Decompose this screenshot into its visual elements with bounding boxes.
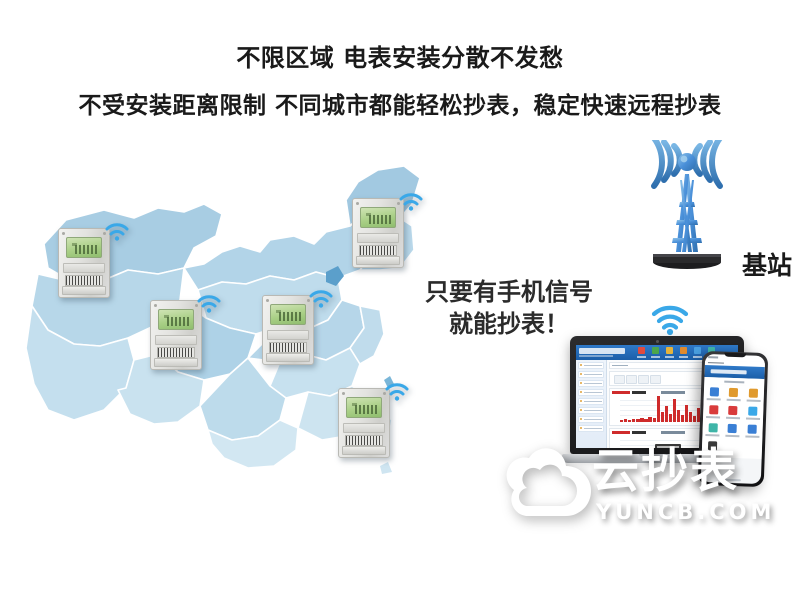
- phone-shell: [698, 351, 769, 487]
- toolbar-icon-5[interactable]: [694, 347, 701, 358]
- electric-meter-icon: [58, 228, 110, 298]
- meter-southeast: [338, 388, 390, 458]
- wifi-icon: [308, 287, 334, 309]
- app-icon-trophy[interactable]: [724, 386, 743, 404]
- meter-central-east: [262, 295, 314, 365]
- watermark-domain: YUNCB.COM: [596, 500, 775, 524]
- chart-bar: [681, 415, 684, 422]
- chart-bar: [685, 405, 688, 422]
- meter-central-west: [150, 300, 202, 370]
- app-icon-mail[interactable]: [703, 439, 722, 457]
- dashboard-logo-sub: [579, 355, 613, 357]
- phone-home-indicator: [721, 479, 741, 482]
- filter-button-2[interactable]: [626, 375, 637, 384]
- center-copy-line-1: 只要有手机信号: [404, 276, 614, 308]
- wifi-icon: [384, 380, 410, 402]
- app-icon-calendar[interactable]: [704, 403, 723, 421]
- chart-bar: [628, 420, 631, 422]
- sidebar-item[interactable]: [578, 380, 604, 387]
- chart-bar: [673, 399, 676, 422]
- chart-bar: [665, 406, 668, 422]
- chart2-legend-series-2: [632, 431, 646, 434]
- app-icon-user[interactable]: [705, 385, 724, 403]
- chart-tooltip: [655, 444, 681, 448]
- wifi-icon: [398, 190, 424, 212]
- filter-button-3[interactable]: [638, 375, 649, 384]
- webcam-icon: [656, 340, 659, 343]
- chart-bar: [632, 419, 635, 422]
- meter-northwest: [58, 228, 110, 298]
- electric-meter-icon: [352, 198, 404, 268]
- sidebar-item[interactable]: [578, 407, 604, 414]
- chart-bar: [653, 418, 656, 422]
- poster-canvas: 不限区域 电表安装分散不发愁 不受安装距离限制 不同城市都能轻松抄表，稳定快速远…: [0, 0, 800, 600]
- toolbar-icon-3[interactable]: [666, 347, 673, 358]
- app-icon-bell[interactable]: [743, 422, 762, 440]
- meter-northeast: [352, 198, 404, 268]
- sidebar-item[interactable]: [578, 398, 604, 405]
- center-copy: 只要有手机信号 就能抄表！: [404, 276, 614, 341]
- toolbar-icon-1[interactable]: [638, 347, 645, 358]
- cell-tower-icon: [636, 140, 738, 280]
- chart-bar: [661, 412, 664, 422]
- toolbar-icon-4[interactable]: [680, 347, 687, 358]
- headline-primary: 不限区域 电表安装分散不发愁: [0, 38, 800, 73]
- sidebar-spacer: [576, 432, 606, 448]
- phone-icon-grid[interactable]: [702, 384, 765, 459]
- toolbar-icon-2[interactable]: [652, 347, 659, 358]
- app-icon-water[interactable]: [743, 404, 762, 422]
- app-icon-award[interactable]: [744, 386, 763, 404]
- chart2-caption: [661, 431, 685, 434]
- chart-bar: [657, 396, 660, 422]
- electric-meter-icon: [150, 300, 202, 370]
- chart2-legend-series-1: [612, 431, 630, 434]
- sidebar-item[interactable]: [578, 362, 604, 369]
- chart-bar: [677, 410, 680, 422]
- app-icon-download[interactable]: [723, 422, 742, 440]
- chart-bar: [624, 419, 627, 422]
- mobile-app: [698, 351, 769, 487]
- chart-legend-series-1: [612, 391, 630, 394]
- sidebar-item[interactable]: [578, 389, 604, 396]
- chart-caption: [661, 391, 685, 394]
- wifi-icon: [648, 300, 692, 336]
- dashboard-sidebar[interactable]: [576, 360, 607, 448]
- chart-bar: [693, 416, 696, 422]
- chart-bar: [644, 419, 647, 422]
- sidebar-item[interactable]: [578, 371, 604, 378]
- chart-bar: [640, 418, 643, 422]
- app-icon-list[interactable]: [724, 404, 743, 422]
- dashboard-logo: [579, 348, 625, 354]
- electric-meter-icon: [338, 388, 390, 458]
- wifi-icon: [196, 292, 222, 314]
- filter-button-4[interactable]: [650, 375, 661, 384]
- chart-bar: [689, 412, 692, 422]
- headline-secondary: 不受安装距离限制 不同城市都能轻松抄表，稳定快速远程抄表: [0, 86, 800, 120]
- chart-bar: [648, 417, 651, 422]
- tower-label: 基站: [742, 246, 792, 282]
- filter-button-1[interactable]: [614, 375, 625, 384]
- chart-bar: [636, 419, 639, 422]
- chart-bar: [620, 420, 623, 422]
- chart-legend-series-2: [632, 391, 646, 394]
- app-icon-chart[interactable]: [703, 421, 722, 439]
- phone-screen: [701, 354, 765, 484]
- laptop-notch: [639, 454, 675, 457]
- sidebar-item[interactable]: [578, 416, 604, 423]
- wifi-icon: [104, 220, 130, 242]
- phone-notch: [724, 353, 746, 358]
- chart-bar: [669, 414, 672, 422]
- electric-meter-icon: [262, 295, 314, 365]
- sidebar-item[interactable]: [578, 425, 604, 432]
